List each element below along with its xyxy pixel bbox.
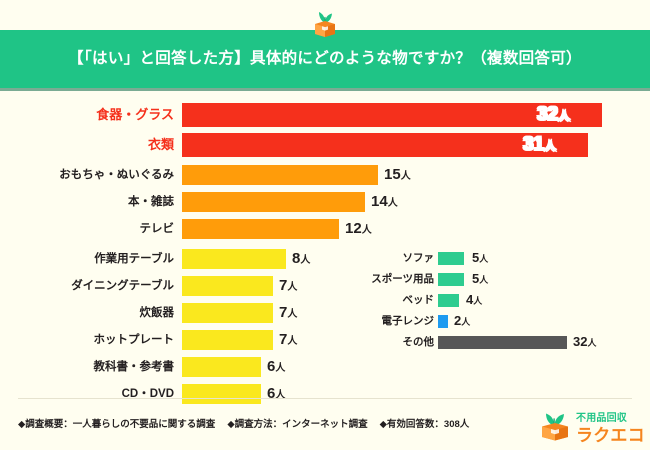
legend-row: ベッド 4人 [0,290,650,310]
logo-wordmark: ラクエコ [576,421,645,446]
legend-row: スポーツ用品 5人 [0,269,650,289]
legend-value: 32人 [573,332,596,352]
legend-label: ソファ [330,248,434,268]
survey-bar-chart: 食器・グラス 32人 衣類 31人 おもちゃ・ぬいぐるみ 15人 本・雑誌 14… [0,96,650,396]
bar-value-number: 14 [371,193,388,210]
legend-label: ベッド [330,290,434,310]
bar-value-unit: 人 [544,139,556,153]
bar-value-unit: 人 [401,171,411,182]
chart-row: 教科書・参考書 6人 [0,354,650,380]
page-footer: ◆調査概要：一人暮らしの不要品に関する調査◆調査方法：インターネット調査◆有効回… [0,398,650,450]
bar-value: 14人 [371,189,398,215]
bar-value-unit: 人 [275,363,285,374]
bar-value: 32人 [537,102,570,128]
bar-value: 12人 [345,216,372,242]
survey-method: ◆調査方法：インターネット調査 [227,419,367,430]
legend-label: 電子レンジ [330,311,434,331]
chart-row: 衣類 31人 [0,132,650,158]
bar-value-number: 15 [384,166,401,183]
survey-meta: ◆調査概要：一人暮らしの不要品に関する調査◆調査方法：インターネット調査◆有効回… [18,416,481,430]
bar-fill [182,357,261,377]
bar-fill [182,219,339,239]
legend-row: その他 32人 [0,332,650,352]
legend-bar-fill [438,252,464,265]
bar-label: テレビ [0,216,174,242]
chart-row: 本・雑誌 14人 [0,189,650,215]
legend-value-unit: 人 [461,317,470,327]
bar-value-unit: 人 [388,198,398,209]
bar-value-unit: 人 [558,109,570,123]
bar-label: 衣類 [0,132,174,158]
survey-responses: ◆有効回答数：308人 [380,419,470,430]
legend-bar-fill [438,273,464,286]
legend-bar-fill [438,315,448,328]
legend-value-number: 32 [573,334,587,349]
chart-row: 食器・グラス 32人 [0,102,650,128]
chart-row: おもちゃ・ぬいぐるみ 15人 [0,162,650,188]
bar-label: 食器・グラス [0,102,174,128]
bar-value-number: 31 [523,134,544,155]
survey-overview: ◆調査概要：一人暮らしの不要品に関する調査 [18,419,215,430]
legend-label: スポーツ用品 [330,269,434,289]
bar-label: おもちゃ・ぬいぐるみ [0,162,174,188]
bar-value-number: 32 [537,104,558,125]
page-title: 【「はい」と回答した方】具体的にどのような物ですか？（複数回答可） [0,30,650,88]
legend-value: 2人 [454,311,470,331]
chart-row: テレビ 12人 [0,216,650,242]
legend-value: 4人 [466,290,482,310]
bar-fill [182,192,365,212]
page-header: 【「はい」と回答した方】具体的にどのような物ですか？（複数回答可） [0,0,650,92]
bar-label: 本・雑誌 [0,189,174,215]
bar-value: 15人 [384,162,411,188]
brand-logo[interactable]: 不用品回収 ラクエコ [538,406,638,444]
legend-value: 5人 [472,269,488,289]
legend-value: 5人 [472,248,488,268]
legend-value-unit: 人 [479,275,488,285]
header-banner-shadow [0,88,650,91]
legend-bar-fill [438,336,567,349]
bar-value: 6人 [267,354,285,380]
bar-label: 教科書・参考書 [0,354,174,380]
sprout-box-icon [311,6,339,38]
legend-row: 電子レンジ 2人 [0,311,650,331]
legend-value-unit: 人 [587,338,596,348]
legend-value-unit: 人 [479,254,488,264]
bar-value-unit: 人 [362,225,372,236]
bar-value: 31人 [523,132,556,158]
legend-bar-fill [438,294,459,307]
footer-divider [18,398,632,399]
legend-value-unit: 人 [473,296,482,306]
bar-value-number: 12 [345,220,362,237]
bar-fill [182,165,378,185]
legend-label: その他 [330,332,434,352]
legend-row: ソファ 5人 [0,248,650,268]
sprout-box-icon [538,408,572,442]
